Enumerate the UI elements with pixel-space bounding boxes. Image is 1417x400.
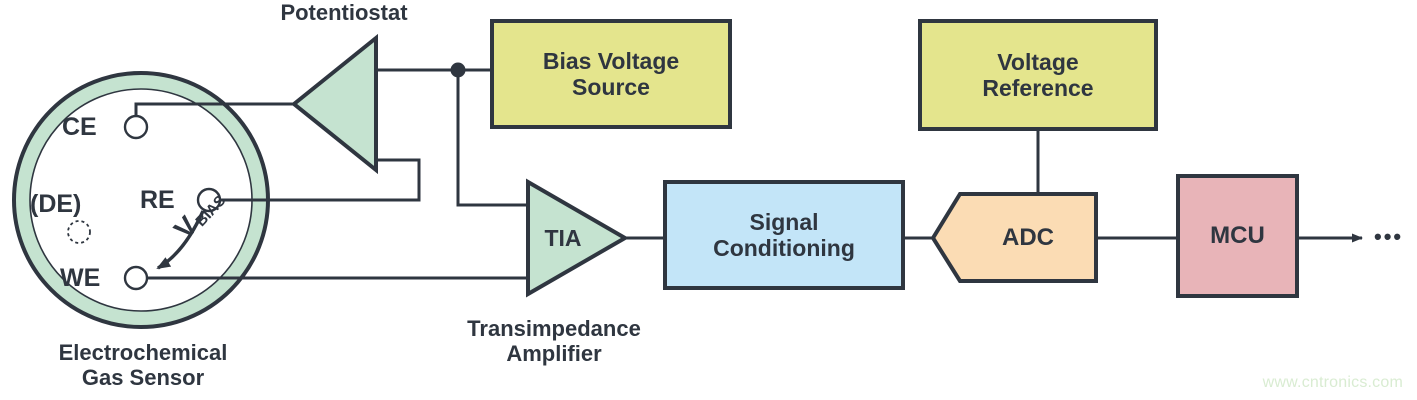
label-voltage-reference: Voltage Reference — [920, 21, 1156, 129]
label-adc: ADC — [960, 194, 1096, 281]
label-signal-conditioning: Signal Conditioning — [665, 182, 903, 288]
sensor-caption: Electrochemical Gas Sensor — [12, 340, 274, 390]
output-continuation: ••• — [1374, 224, 1416, 249]
block-diagram-canvas: CE (DE) RE WE VBIAS Electrochemical Gas … — [0, 0, 1417, 400]
terminal-label-de: (DE) — [30, 190, 118, 219]
tia-label: TIA — [532, 222, 594, 254]
terminal-label-ce: CE — [62, 113, 122, 142]
junction-dot — [451, 63, 466, 78]
terminal-we[interactable] — [125, 267, 147, 289]
terminal-de[interactable] — [68, 221, 90, 243]
tia-caption: Transimpedance Amplifier — [434, 316, 674, 366]
potentiostat-caption: Potentiostat — [230, 0, 458, 25]
potentiostat-amplifier[interactable] — [294, 38, 376, 170]
label-bias-voltage-source: Bias Voltage Source — [492, 21, 730, 127]
terminal-ce[interactable] — [125, 116, 147, 138]
label-mcu: MCU — [1178, 176, 1297, 296]
watermark: www.cntronics.com — [1263, 374, 1403, 392]
terminal-label-we: WE — [60, 264, 124, 293]
